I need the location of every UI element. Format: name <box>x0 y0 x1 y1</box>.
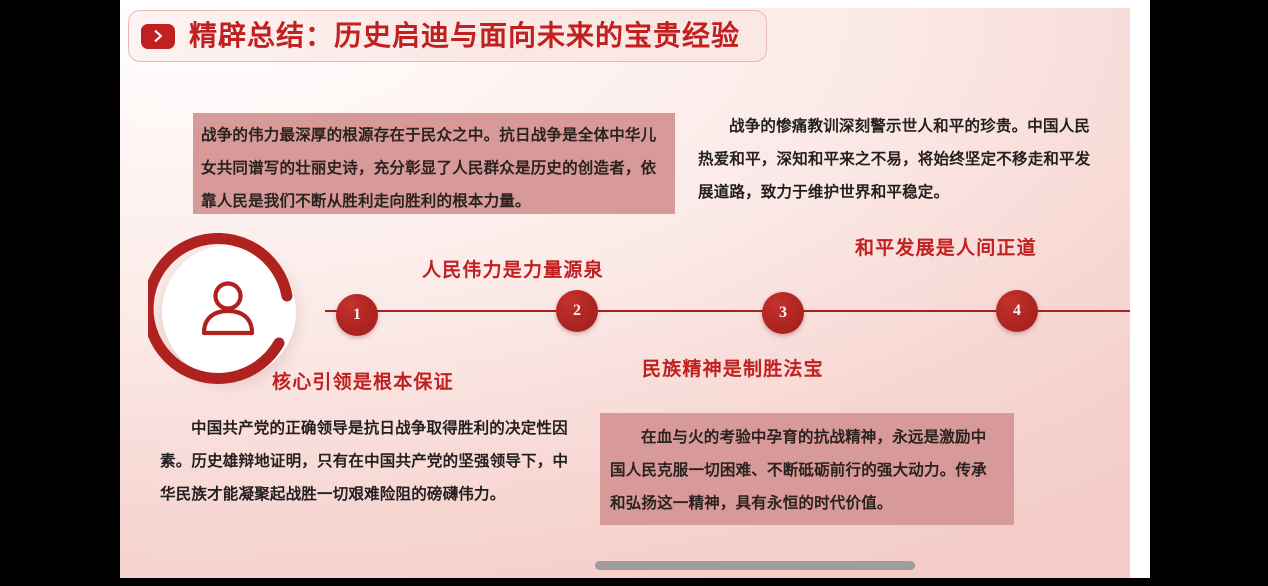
paragraph-war-spirit: 在血与火的考验中孕育的抗战精神，永远是激励中国人民克服一切困难、不断砥砺前行的强… <box>600 413 1014 525</box>
page-title: 精辟总结：历史启迪与面向未来的宝贵经验 <box>189 22 740 50</box>
slide-panel: 精辟总结：历史启迪与面向未来的宝贵经验 战争的伟力最深厚的根源存在于民众之中。抗… <box>120 0 1150 578</box>
page-title-bar: 精辟总结：历史启迪与面向未来的宝贵经验 <box>128 10 767 62</box>
timeline-node-4[interactable]: 4 <box>996 290 1038 332</box>
heading-peace-development: 和平发展是人间正道 <box>855 233 1037 260</box>
timeline-node-1[interactable]: 1 <box>336 294 378 336</box>
letterbox-bottom <box>0 578 1268 586</box>
paragraph-party-leadership: 中国共产党的正确领导是抗日战争取得胜利的决定性因素。历史雄辩地证明，只有在中国共… <box>160 412 580 511</box>
timeline-node-3[interactable]: 3 <box>762 292 804 334</box>
heading-people-power: 人民伟力是力量源泉 <box>422 255 604 282</box>
avatar <box>148 233 308 393</box>
person-icon <box>194 277 262 345</box>
panel-top-edge <box>120 0 1150 8</box>
heading-national-spirit: 民族精神是制胜法宝 <box>642 354 824 381</box>
horizontal-scrollbar-thumb[interactable] <box>595 561 915 570</box>
chevron-right-icon <box>141 24 175 49</box>
horizontal-scrollbar-track[interactable] <box>240 556 1150 578</box>
paragraph-peace-development: 战争的惨痛教训深刻警示世人和平的珍贵。中国人民热爱和平，深知和平来之不易，将始终… <box>698 110 1098 209</box>
timeline-node-2[interactable]: 2 <box>556 290 598 332</box>
slide-root: 精辟总结：历史启迪与面向未来的宝贵经验 战争的伟力最深厚的根源存在于民众之中。抗… <box>0 0 1268 586</box>
panel-right-edge <box>1130 0 1150 578</box>
paragraph-people-power: 战争的伟力最深厚的根源存在于民众之中。抗日战争是全体中华儿女共同谱写的壮丽史诗，… <box>193 113 675 214</box>
